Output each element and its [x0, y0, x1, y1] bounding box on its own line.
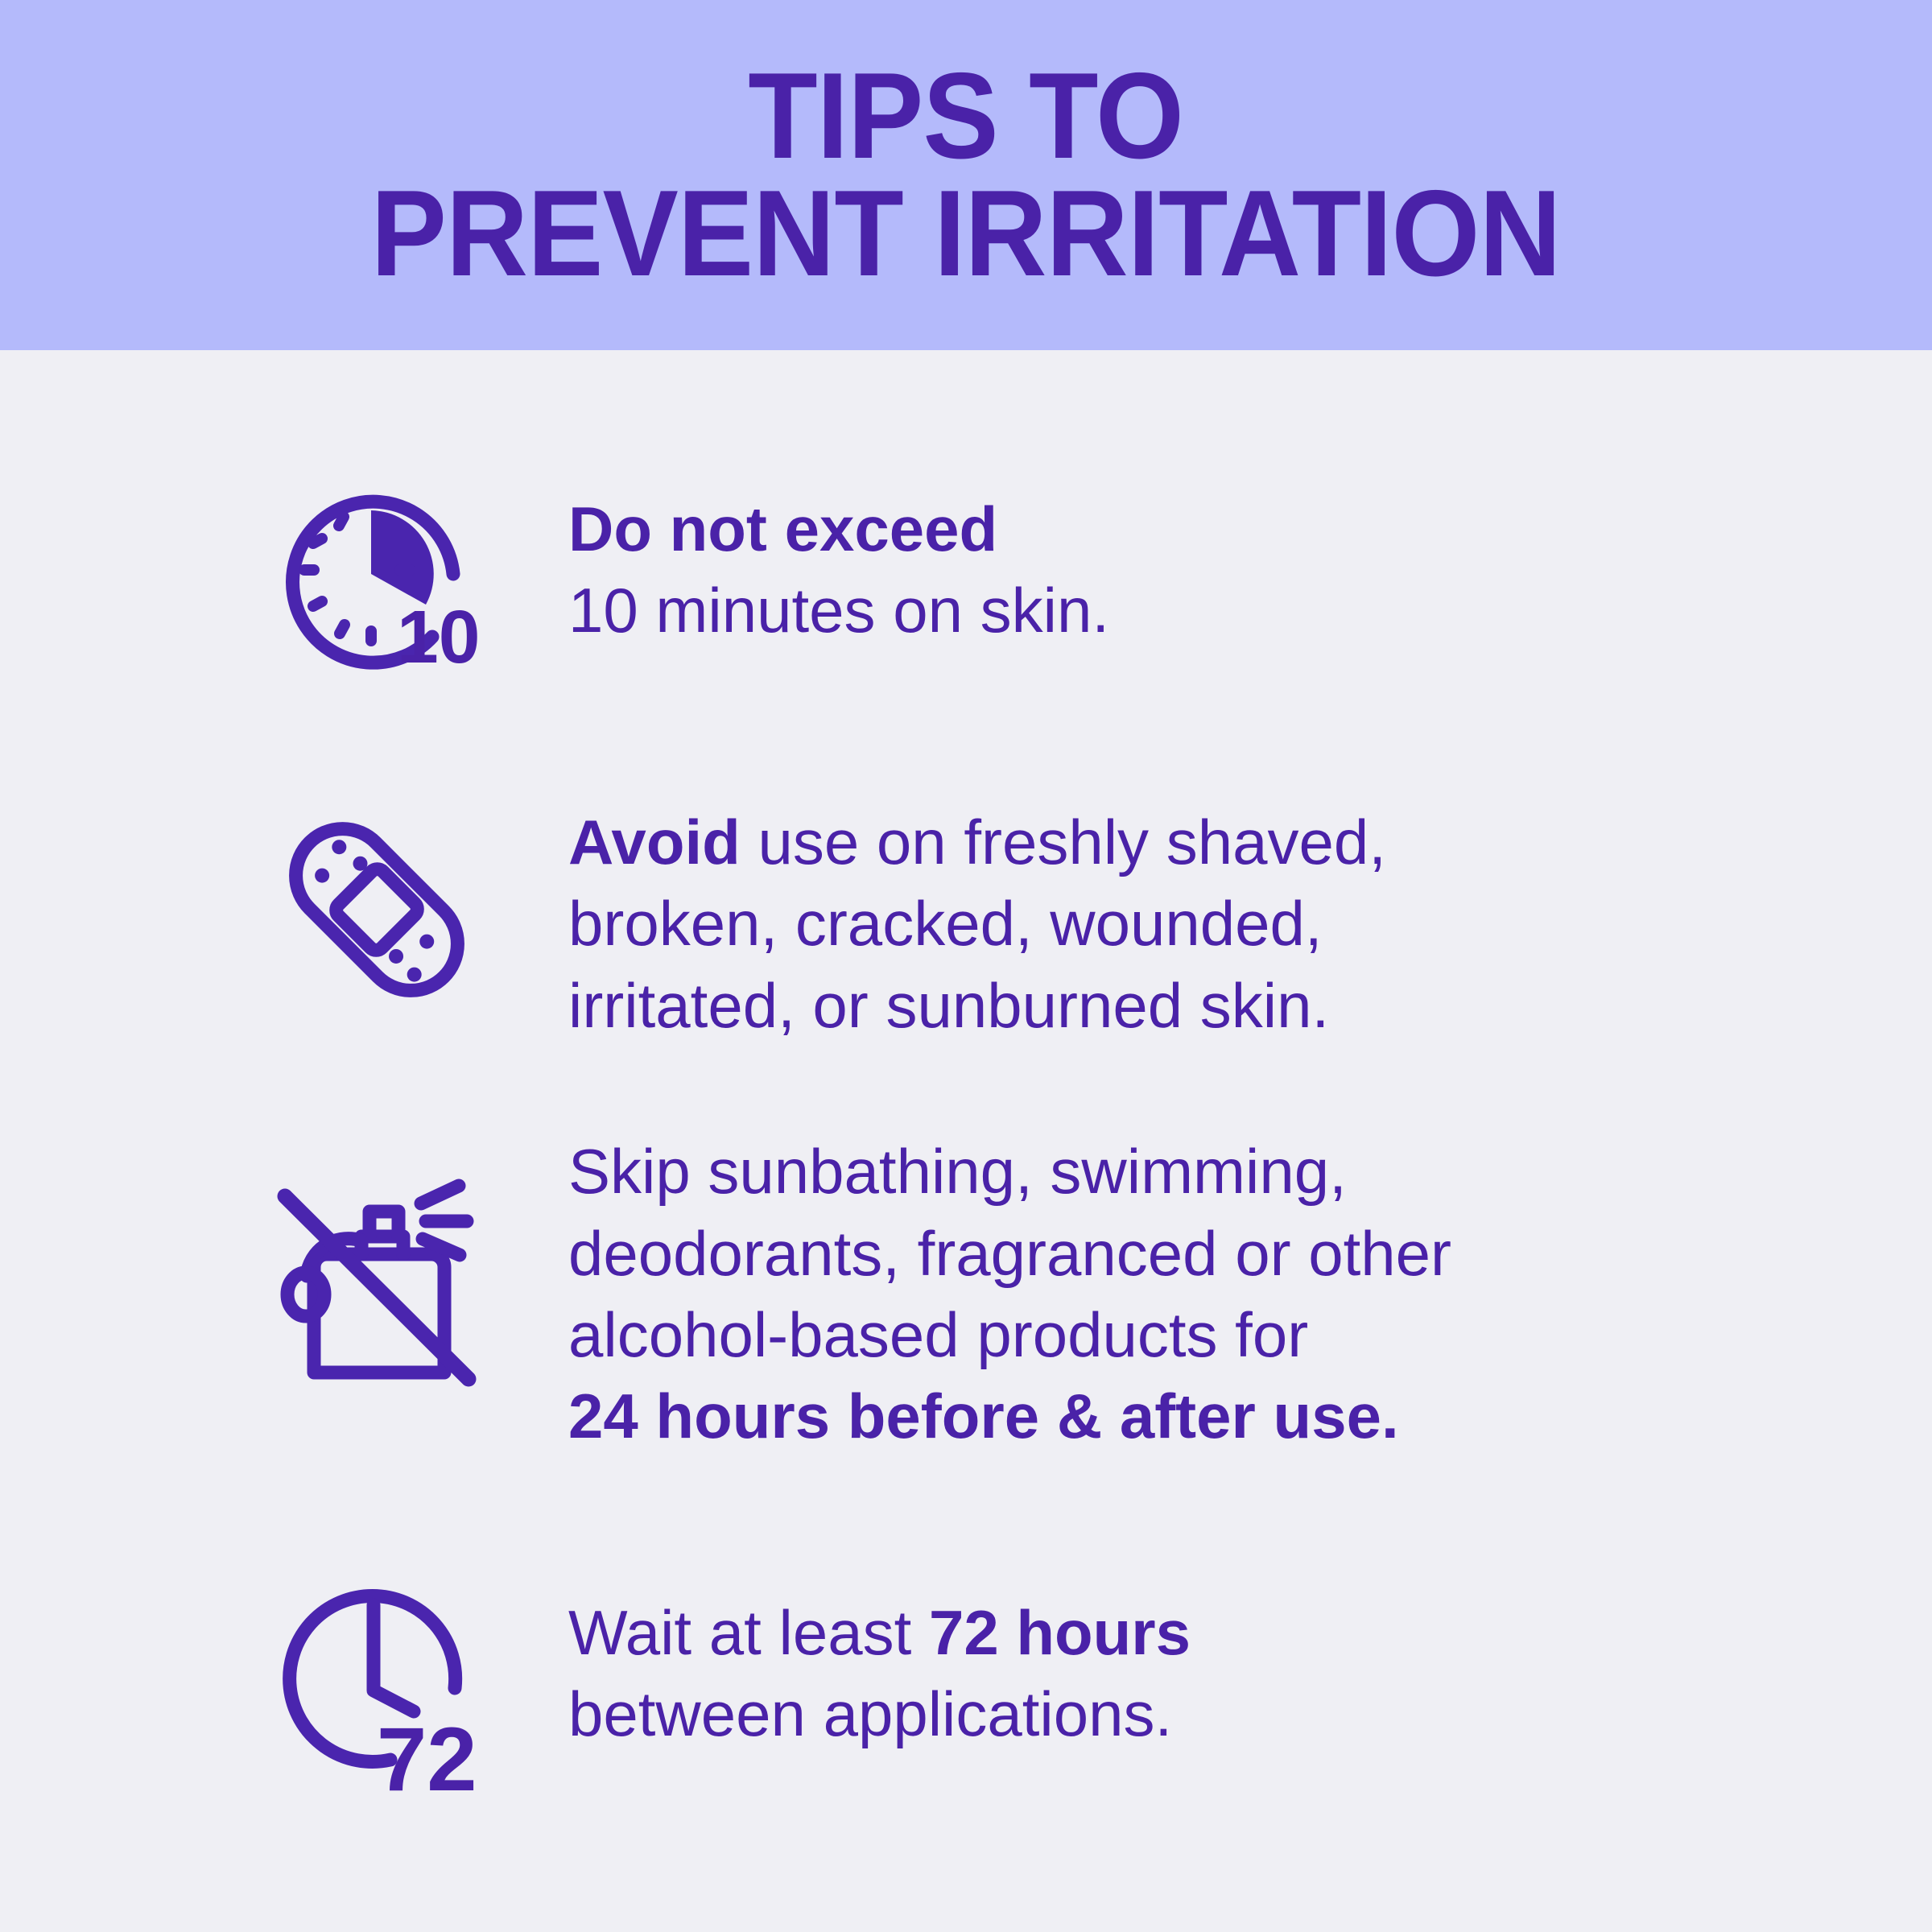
tip-item: Avoid use on freshly shaved, broken, cra…: [0, 789, 1932, 1046]
tip-bold: 24 hours before & after use.: [568, 1381, 1399, 1451]
tip-bold: Do not exceed: [568, 493, 997, 564]
bandage-icon: [256, 789, 497, 1030]
page-title-line-2: PREVENT IRRITATION: [371, 175, 1561, 293]
tip-normal: broken, cracked, wounded,: [568, 888, 1323, 959]
page-title-line-1: TIPS TO: [371, 58, 1561, 175]
infographic-page: TIPS TO PREVENT IRRITATION: [0, 0, 1932, 1932]
header-band: TIPS TO PREVENT IRRITATION: [0, 0, 1932, 350]
tip-line: Do not exceed: [568, 489, 1755, 570]
tip-normal: alcohol-based products for: [568, 1299, 1308, 1370]
clock-72-hours-icon: 72: [256, 1573, 497, 1814]
clock-10-minutes-icon: 10: [256, 455, 497, 696]
tip-normal: 10 minutes on skin.: [568, 575, 1109, 646]
tip-line: between applications.: [568, 1674, 1755, 1755]
tip-line: Skip sunbathing, swimming,: [568, 1131, 1755, 1212]
no-spray-bottle-icon: [256, 1163, 497, 1405]
tip-line: deodorants, fragranced or other: [568, 1213, 1755, 1294]
tip-normal: between applications.: [568, 1678, 1172, 1749]
tip-bold: Avoid: [568, 807, 741, 877]
tips-list: 10 Do not exceed 10 minutes on skin.: [0, 455, 1932, 1814]
tip-line: 10 minutes on skin.: [568, 570, 1755, 651]
tip-line: 24 hours before & after use.: [568, 1376, 1755, 1457]
clock-72-label: 72: [377, 1709, 477, 1810]
tip-line: Wait at least 72 hours: [568, 1592, 1755, 1674]
tip-normal: Wait at least: [568, 1597, 929, 1668]
tip-line: broken, cracked, wounded,: [568, 883, 1755, 964]
tip-line: irritated, or sunburned skin.: [568, 965, 1755, 1046]
tip-text: Wait at least 72 hours between applicati…: [497, 1558, 1755, 1756]
tip-item: 72 Wait at least 72 hours between applic…: [0, 1558, 1932, 1814]
tip-normal: use on freshly shaved,: [741, 807, 1386, 877]
tip-text: Do not exceed 10 minutes on skin.: [497, 455, 1755, 652]
tip-text: Avoid use on freshly shaved, broken, cra…: [497, 789, 1755, 1046]
tip-normal: irritated, or sunburned skin.: [568, 970, 1329, 1041]
tip-bold: 72 hours: [929, 1597, 1191, 1668]
tip-text: Skip sunbathing, swimming, deodorants, f…: [497, 1131, 1755, 1458]
tip-normal: deodorants, fragranced or other: [568, 1218, 1451, 1289]
clock-10-label: 10: [397, 595, 480, 679]
page-title: TIPS TO PREVENT IRRITATION: [341, 58, 1591, 293]
tip-line: alcohol-based products for: [568, 1294, 1755, 1376]
tip-line: Avoid use on freshly shaved,: [568, 802, 1755, 883]
tip-item: 10 Do not exceed 10 minutes on skin.: [0, 455, 1932, 696]
tip-item: Skip sunbathing, swimming, deodorants, f…: [0, 1131, 1932, 1458]
tip-normal: Skip sunbathing, swimming,: [568, 1136, 1347, 1207]
